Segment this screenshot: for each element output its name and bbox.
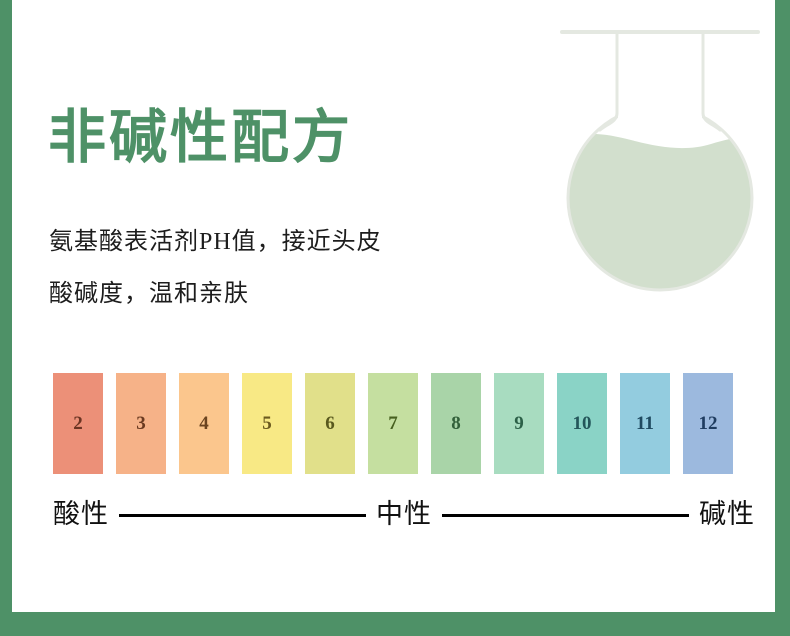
ph-tile-10: 10 — [557, 373, 607, 474]
ph-tile-7: 7 — [368, 373, 418, 474]
flask-rim — [560, 30, 760, 34]
scale-rule-right — [442, 514, 689, 517]
ph-tile-4: 4 — [179, 373, 229, 474]
page-title: 非碱性配方 — [48, 108, 353, 169]
ph-tile-11: 11 — [620, 373, 670, 474]
ph-tile-12: 12 — [683, 373, 733, 474]
flask-neck-mask — [618, 98, 702, 126]
flask-svg — [545, 18, 775, 303]
ph-scale-strip: 2 3 4 5 6 7 8 9 10 11 12 — [53, 373, 749, 474]
scale-rule-left — [119, 514, 366, 517]
ph-tile-2: 2 — [53, 373, 103, 474]
content-card: 非碱性配方 氨基酸表活剂PH值，接近头皮 酸碱度，温和亲肤 2 3 4 5 6 … — [12, 0, 775, 612]
description-line-1: 氨基酸表活剂PH值，接近头皮 — [49, 216, 382, 268]
description-line-2: 酸碱度，温和亲肤 — [49, 268, 382, 320]
ph-tile-8: 8 — [431, 373, 481, 474]
ph-tile-5: 5 — [242, 373, 292, 474]
description-text: 氨基酸表活剂PH值，接近头皮 酸碱度，温和亲肤 — [49, 216, 382, 320]
ph-tile-9: 9 — [494, 373, 544, 474]
flask-neck-left — [600, 34, 617, 130]
flask-neck-right — [703, 34, 720, 130]
ph-tile-6: 6 — [305, 373, 355, 474]
round-bottom-flask-icon — [545, 18, 775, 303]
scale-label-acidic: 酸性 — [53, 492, 109, 531]
poster-frame: 非碱性配方 氨基酸表活剂PH值，接近头皮 酸碱度，温和亲肤 2 3 4 5 6 … — [0, 0, 790, 636]
ph-scale-legend: 酸性 中性 碱性 — [53, 490, 755, 532]
scale-label-alkaline: 碱性 — [699, 492, 755, 531]
ph-tile-3: 3 — [116, 373, 166, 474]
scale-label-neutral: 中性 — [376, 492, 432, 531]
flask-liquid — [555, 134, 767, 303]
